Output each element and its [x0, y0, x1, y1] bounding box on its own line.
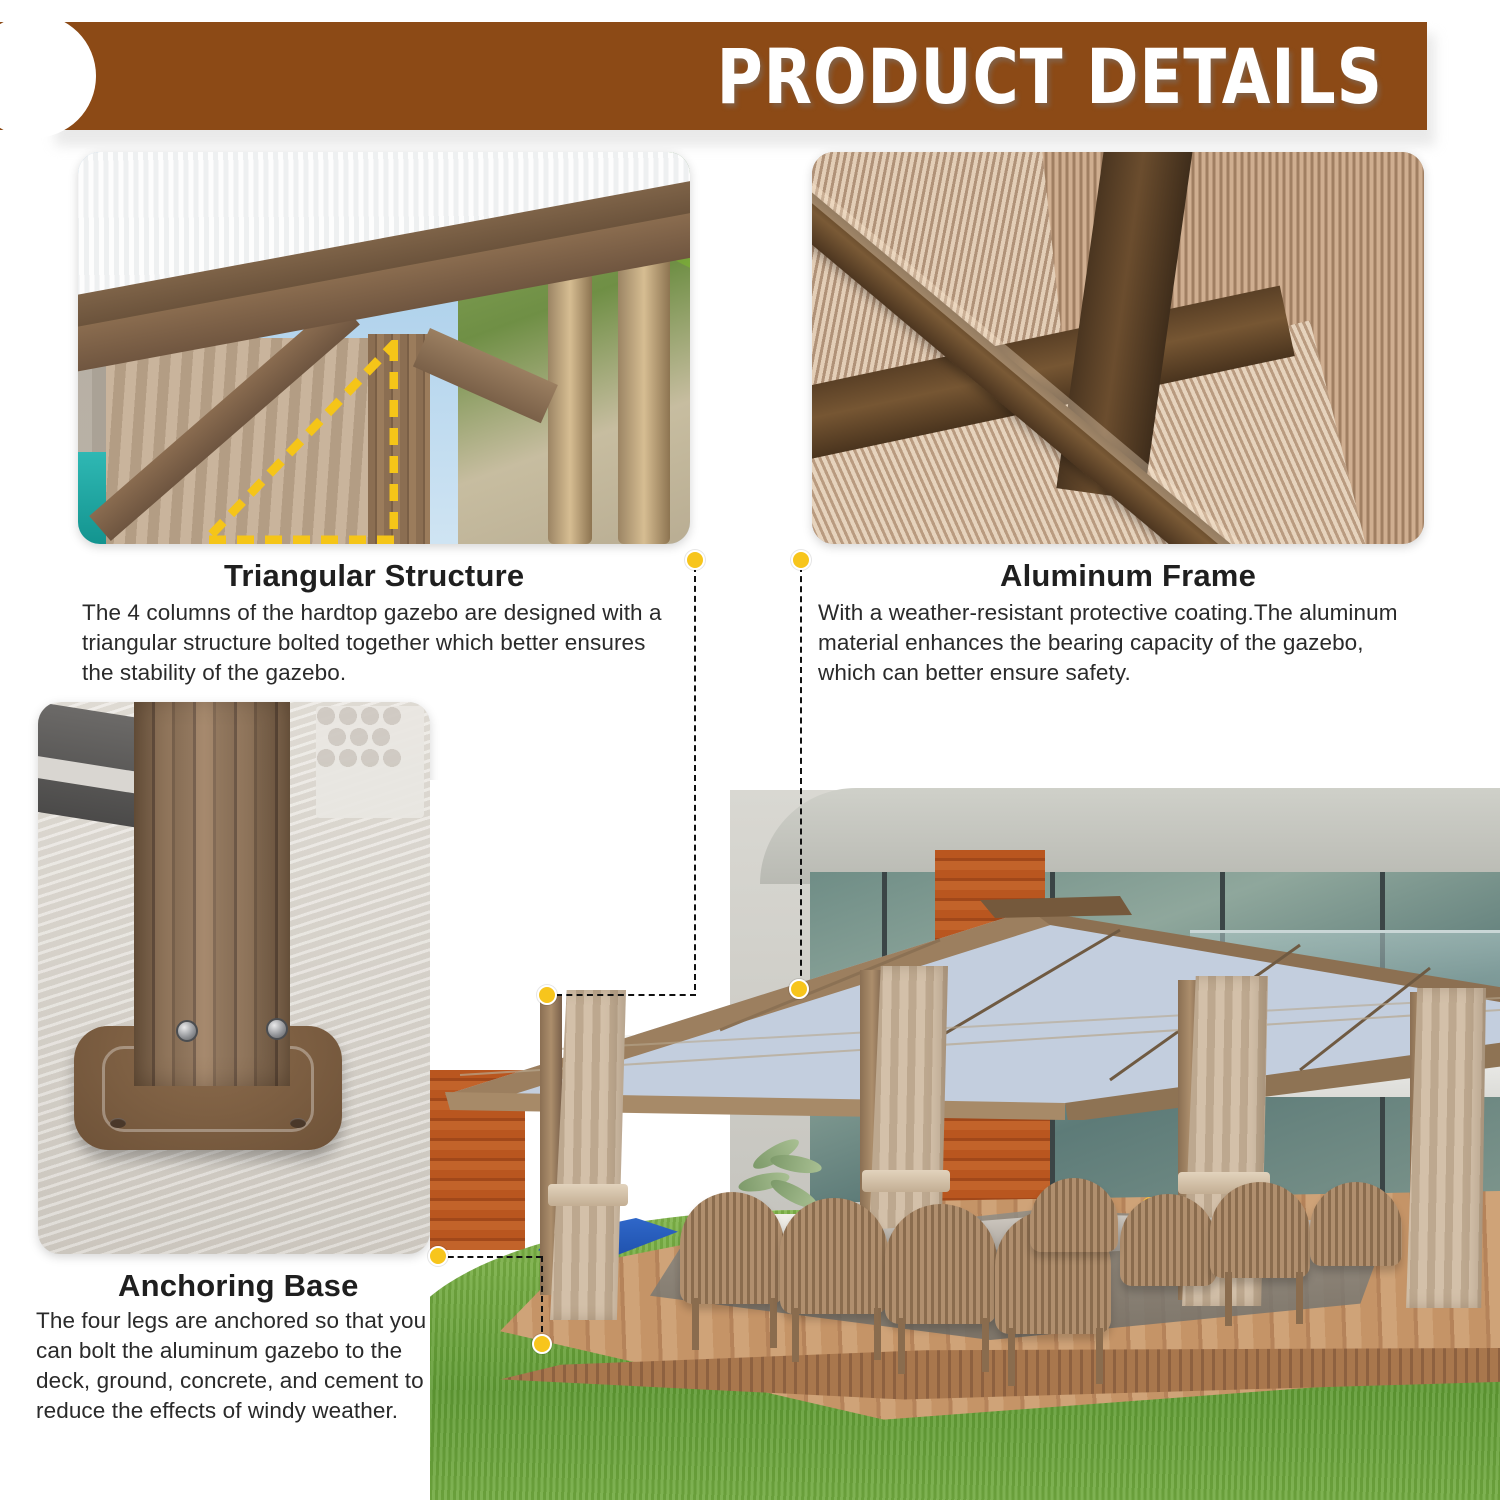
callout-line-anchor	[438, 1256, 542, 1258]
lattice-side-table	[316, 706, 424, 818]
chair-leg	[1296, 1272, 1303, 1324]
callout-line-anchor-elbow	[541, 1256, 543, 1342]
page-title: PRODUCT DETAILS	[114, 22, 1427, 130]
curtain-tieback	[548, 1184, 628, 1206]
feature-body-triangular: The 4 columns of the hardtop gazebo are …	[82, 598, 682, 688]
chair-leg	[692, 1298, 699, 1350]
gazebo-curtain	[1406, 988, 1486, 1308]
photo-aluminum-frame	[812, 152, 1424, 544]
callout-dot-anchor	[532, 1334, 552, 1354]
dining-chair	[1210, 1182, 1310, 1278]
gazebo-scene-photo	[430, 780, 1500, 1500]
callout-dot-aluminum-top	[791, 550, 811, 570]
feature-title-anchor: Anchoring Base	[118, 1268, 359, 1304]
dining-chair	[780, 1198, 888, 1314]
dining-chair	[1120, 1194, 1216, 1286]
callout-dot-anchor-left	[428, 1246, 448, 1266]
callout-dot-triangular-top	[685, 550, 705, 570]
photo-anchoring-base	[38, 702, 430, 1254]
chair-leg	[1225, 1272, 1232, 1326]
anchor-bolt-hole	[110, 1118, 126, 1128]
hex-bolt	[176, 1020, 198, 1042]
callout-dot-triangular	[537, 985, 557, 1005]
chair-leg	[874, 1308, 881, 1360]
dining-chair	[885, 1204, 997, 1324]
dining-chair	[680, 1192, 784, 1304]
callout-line-triangular-elbow	[556, 994, 696, 996]
callout-dot-aluminum	[789, 979, 809, 999]
anchor-bolt-hole	[290, 1118, 306, 1128]
chair-leg	[792, 1308, 799, 1362]
dining-chair	[1310, 1182, 1402, 1266]
feature-body-anchor: The four legs are anchored so that you c…	[36, 1306, 456, 1426]
feature-title-triangular: Triangular Structure	[224, 558, 524, 594]
hex-bolt	[266, 1018, 288, 1040]
photo-triangular-structure	[78, 152, 690, 544]
curtain-tieback	[862, 1170, 950, 1192]
chair-leg	[1008, 1328, 1015, 1386]
header-banner: PRODUCT DETAILS	[0, 22, 1460, 142]
callout-line-aluminum	[800, 566, 802, 986]
chair-leg	[770, 1298, 777, 1348]
yellow-dashed-triangle-overlay	[198, 340, 398, 544]
palm-trunk	[548, 272, 592, 544]
chair-leg	[1096, 1328, 1103, 1384]
feature-body-aluminum: With a weather-resistant protective coat…	[818, 598, 1418, 688]
feature-title-aluminum: Aluminum Frame	[1000, 558, 1256, 594]
chair-leg	[898, 1318, 905, 1374]
callout-line-triangular	[694, 566, 696, 990]
chair-leg	[982, 1318, 989, 1372]
